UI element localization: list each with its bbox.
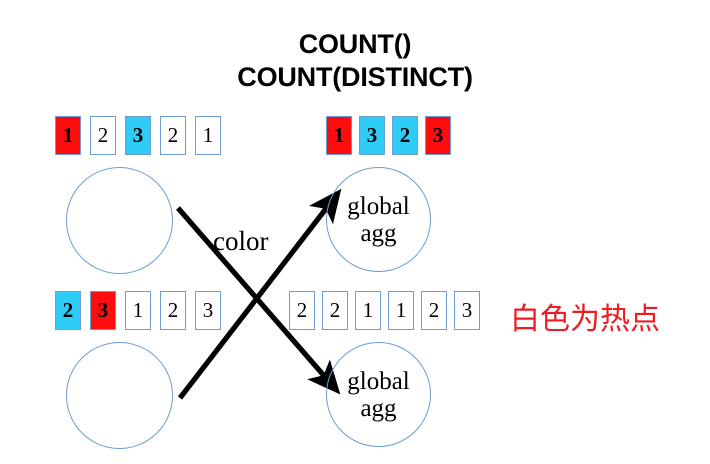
data-cell: 1 <box>195 116 221 155</box>
data-cell: 1 <box>355 291 381 330</box>
data-cell: 2 <box>160 291 186 330</box>
data-cell: 2 <box>289 291 315 330</box>
data-cell: 2 <box>421 291 447 330</box>
data-cell: 3 <box>454 291 480 330</box>
data-cell: 1 <box>388 291 414 330</box>
data-cell: 2 <box>160 116 186 155</box>
data-cell: 3 <box>195 291 221 330</box>
title-line-count: COUNT() <box>0 28 710 61</box>
input-row-top: 12321 <box>55 116 221 155</box>
hotspot-note: 白色为热点 <box>510 294 660 338</box>
data-cell: 3 <box>90 291 116 330</box>
circle-label-line: global <box>347 368 410 395</box>
output-row-top: 1323 <box>326 116 451 155</box>
circle-label-line: agg <box>360 395 396 422</box>
global-agg-circle-top: globalagg <box>326 167 431 272</box>
page-title: COUNT() COUNT(DISTINCT) <box>0 28 710 94</box>
data-cell: 3 <box>125 116 151 155</box>
diagram-canvas: COUNT() COUNT(DISTINCT) 12321 23123 1323… <box>0 0 710 464</box>
data-cell: 2 <box>90 116 116 155</box>
circle-label-line: global <box>347 193 410 220</box>
data-cell: 1 <box>55 116 81 155</box>
data-cell: 2 <box>322 291 348 330</box>
title-line-count-distinct: COUNT(DISTINCT) <box>0 61 710 94</box>
data-cell: 2 <box>55 291 81 330</box>
source-circle-bottom <box>66 342 173 449</box>
color-edge-label: color <box>213 226 268 257</box>
circle-label-line: agg <box>360 220 396 247</box>
data-cell: 2 <box>392 116 418 155</box>
data-cell: 1 <box>326 116 352 155</box>
output-row-bottom: 221123 <box>289 291 480 330</box>
global-agg-circle-bottom: globalagg <box>326 342 431 447</box>
input-row-bottom: 23123 <box>55 291 221 330</box>
data-cell: 3 <box>359 116 385 155</box>
data-cell: 1 <box>125 291 151 330</box>
source-circle-top <box>66 167 173 274</box>
data-cell: 3 <box>425 116 451 155</box>
